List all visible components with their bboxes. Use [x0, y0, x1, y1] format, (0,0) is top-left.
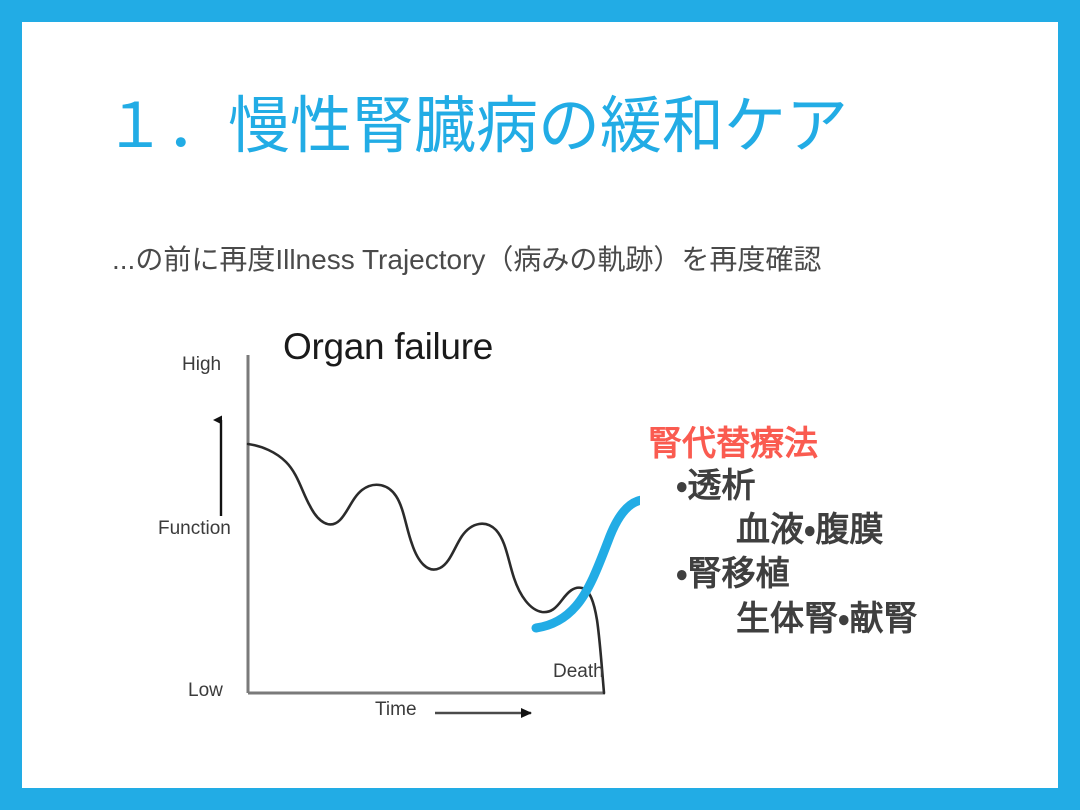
slide-border-top: [0, 0, 1080, 22]
renal-replacement-therapy-annotation: 腎代替療法 ・透析 血液・腹膜 ・腎移植 生体腎・献腎: [648, 424, 1048, 641]
slide-border-right: [1058, 0, 1080, 810]
figure-caption: Organ failure: [283, 326, 493, 368]
renal-replacement-therapy-curve: [536, 500, 640, 628]
x-axis-title-time: Time: [375, 699, 417, 721]
rrt-item-transplant: ・腎移植: [648, 552, 1048, 596]
death-endpoint-label: Death: [553, 661, 604, 683]
slide-title: １．慢性腎臓病の緩和ケア: [104, 94, 848, 159]
illness-trajectory-figure: Organ failure High Function Low Time Dea…: [150, 320, 640, 740]
rrt-item-dialysis-detail: 血液・腹膜: [648, 508, 1048, 552]
organ-failure-curve: [248, 444, 604, 693]
slide-border-left: [0, 0, 22, 810]
slide-root: １．慢性腎臓病の緩和ケア ...の前に再度Illness Trajectory（…: [0, 0, 1080, 810]
y-axis-title-function: Function: [158, 518, 231, 540]
rrt-item-dialysis: ・透析: [648, 464, 1048, 508]
rrt-heading: 腎代替療法: [648, 424, 1048, 464]
y-axis-low-label: Low: [188, 680, 223, 702]
rrt-item-transplant-detail: 生体腎・献腎: [648, 597, 1048, 641]
y-axis-high-label: High: [182, 354, 221, 376]
slide-border-bottom: [0, 788, 1080, 810]
slide-subtitle: ...の前に再度Illness Trajectory（病みの軌跡）を再度確認: [112, 243, 821, 277]
